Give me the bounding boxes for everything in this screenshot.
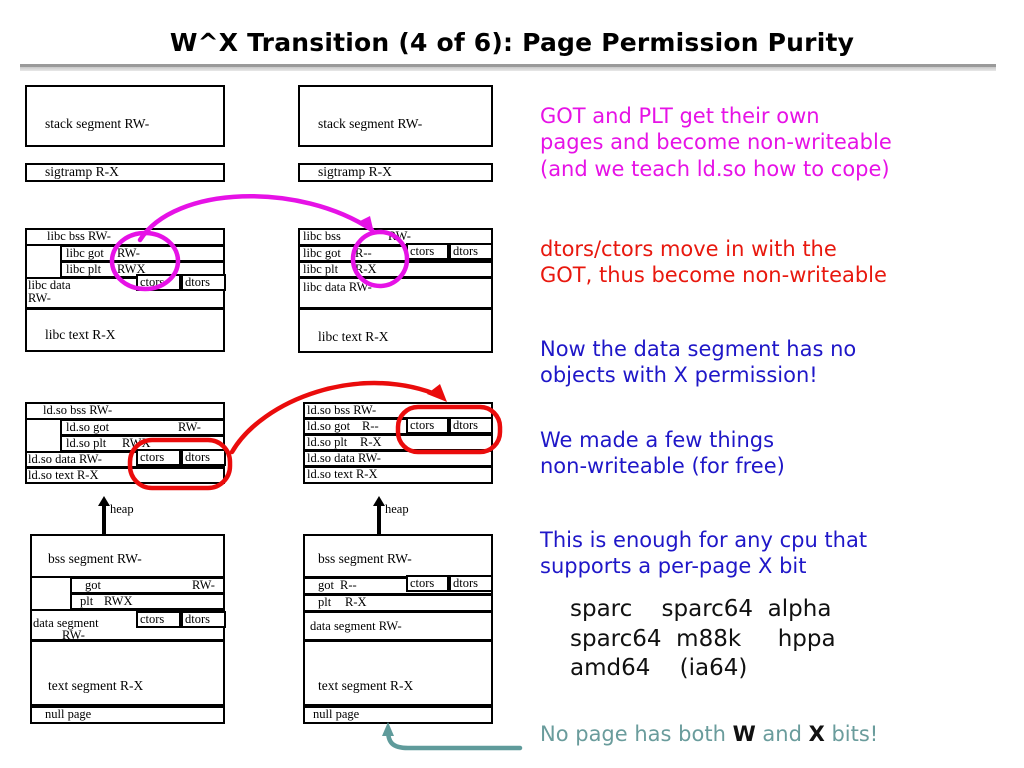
left-null-page-label: null page — [45, 708, 91, 721]
left-got-name: got — [85, 579, 101, 592]
footer-part-1: No page has both — [540, 722, 733, 746]
footer-part-2: and — [756, 722, 809, 746]
right-got-name: got — [318, 579, 334, 592]
right-ldso-text-label: ld.so text R-X — [307, 468, 377, 481]
cpu-list-item: amd64 (ia64) — [570, 654, 1010, 684]
right-plt-name: plt — [318, 596, 331, 609]
left-plt-name: plt — [80, 595, 93, 608]
note-data-segment: Now the data segment has no objects with… — [540, 336, 1010, 389]
note-footer: No page has both W and X bits! — [540, 722, 1010, 746]
left-ldso-got-perm: RW- — [178, 421, 201, 434]
left-ldso-bss-label: ld.so bss RW- — [43, 404, 112, 417]
right-sigtramp-label: sigtramp R-X — [318, 165, 392, 179]
left-libc-data-label-2: RW- — [28, 292, 51, 305]
footer-part-3: bits! — [825, 722, 878, 746]
left-heap-arrow-head — [98, 496, 110, 506]
left-plt-row — [70, 593, 225, 610]
left-ldso-dtors-label: dtors — [185, 451, 210, 464]
right-got-perm: R-- — [340, 579, 357, 592]
left-text-segment-row — [30, 640, 225, 706]
left-libc-bss-label: libc bss RW- — [47, 230, 111, 243]
left-libc-got-perm: RW- — [117, 247, 140, 260]
left-stack-segment-label: stack segment RW- — [45, 117, 149, 131]
right-libc-data-label: libc data RW- — [303, 281, 372, 294]
left-program-ctors-label: ctors — [140, 613, 164, 626]
note-cpu-intro: This is enough for any cpu that supports… — [540, 527, 1010, 580]
left-ldso-ctors-label: ctors — [140, 451, 164, 464]
teal-arrow-head — [382, 722, 394, 736]
right-ldso-got-name: ld.so got — [307, 420, 350, 433]
red-arrow-head — [427, 384, 447, 402]
left-heap-label: heap — [110, 503, 134, 516]
left-bss-segment-label: bss segment RW- — [48, 552, 142, 566]
title-divider — [20, 64, 996, 71]
right-bss-segment-label: bss segment RW- — [318, 552, 412, 566]
right-ldso-bss-label: ld.so bss RW- — [307, 404, 376, 417]
left-libc-text-label: libc text R-X — [45, 328, 116, 342]
right-ldso-plt-perm: R-X — [360, 436, 382, 449]
right-libc-ctors-label: ctors — [410, 245, 434, 258]
right-libc-bss-name: libc bss — [303, 230, 341, 243]
teal-arrow — [388, 730, 520, 748]
left-ldso-plt-name: ld.so plt — [66, 437, 106, 450]
right-ldso-got-perm: R-- — [362, 420, 379, 433]
cpu-list: sparc sparc64 alpha sparc64 m88k hppa am… — [570, 595, 1010, 684]
right-libc-got-name: libc got — [303, 247, 341, 260]
right-libc-plt-name: libc plt — [303, 263, 338, 276]
right-ldso-data-label: ld.so data RW- — [307, 452, 381, 465]
right-plt-perm: R-X — [345, 596, 367, 609]
right-libc-text-label: libc text R-X — [318, 330, 389, 344]
left-libc-ctors-label: ctors — [140, 276, 164, 289]
left-libc-plt-name: libc plt — [66, 263, 101, 276]
right-program-dtors-label: dtors — [453, 577, 478, 590]
right-stack-segment-label: stack segment RW- — [318, 117, 422, 131]
left-got-perm: RW- — [192, 579, 215, 592]
left-text-segment-label: text segment R-X — [48, 679, 143, 693]
right-libc-dtors-label: dtors — [453, 245, 478, 258]
left-program-dtors-label: dtors — [185, 613, 210, 626]
right-null-page-label: null page — [313, 708, 359, 721]
left-ldso-got-name: ld.so got — [66, 421, 109, 434]
right-libc-got-perm: R-- — [355, 247, 372, 260]
left-ldso-text-label: ld.so text R-X — [28, 469, 98, 482]
footer-w-bit: W — [733, 722, 756, 746]
right-text-segment-row — [303, 640, 493, 706]
left-heap-arrow-shaft — [102, 505, 106, 537]
right-libc-bss-perm: RW- — [388, 230, 411, 243]
right-plt-row — [303, 594, 493, 612]
note-dtors-ctors: dtors/ctors move in with the GOT, thus b… — [540, 236, 1010, 289]
right-heap-arrow-shaft — [377, 505, 381, 537]
note-free-wins: We made a few things non-writeable (for … — [540, 427, 1010, 480]
left-sigtramp-label: sigtramp R-X — [45, 165, 119, 179]
note-got-plt: GOT and PLT get their own pages and beco… — [540, 103, 1010, 182]
left-libc-dtors-label: dtors — [185, 276, 210, 289]
cpu-list-item: sparc64 m88k hppa — [570, 625, 1010, 655]
right-libc-plt-perm: R-X — [355, 263, 377, 276]
page-title: W^X Transition (4 of 6): Page Permission… — [0, 28, 1024, 57]
right-heap-label: heap — [385, 503, 409, 516]
right-ldso-ctors-label: ctors — [410, 419, 434, 432]
right-program-ctors-label: ctors — [410, 577, 434, 590]
right-heap-arrow-head — [373, 496, 385, 506]
right-ldso-dtors-label: dtors — [453, 419, 478, 432]
right-text-segment-label: text segment R-X — [318, 679, 413, 693]
footer-x-bit: X — [809, 722, 825, 746]
left-ldso-data-label: ld.so data RW- — [28, 453, 102, 466]
left-plt-perm: RWX — [104, 595, 132, 608]
left-libc-got-name: libc got — [66, 247, 104, 260]
right-data-segment-label: data segment RW- — [310, 620, 402, 633]
cpu-list-item: sparc sparc64 alpha — [570, 595, 1010, 625]
right-ldso-plt-name: ld.so plt — [307, 436, 347, 449]
